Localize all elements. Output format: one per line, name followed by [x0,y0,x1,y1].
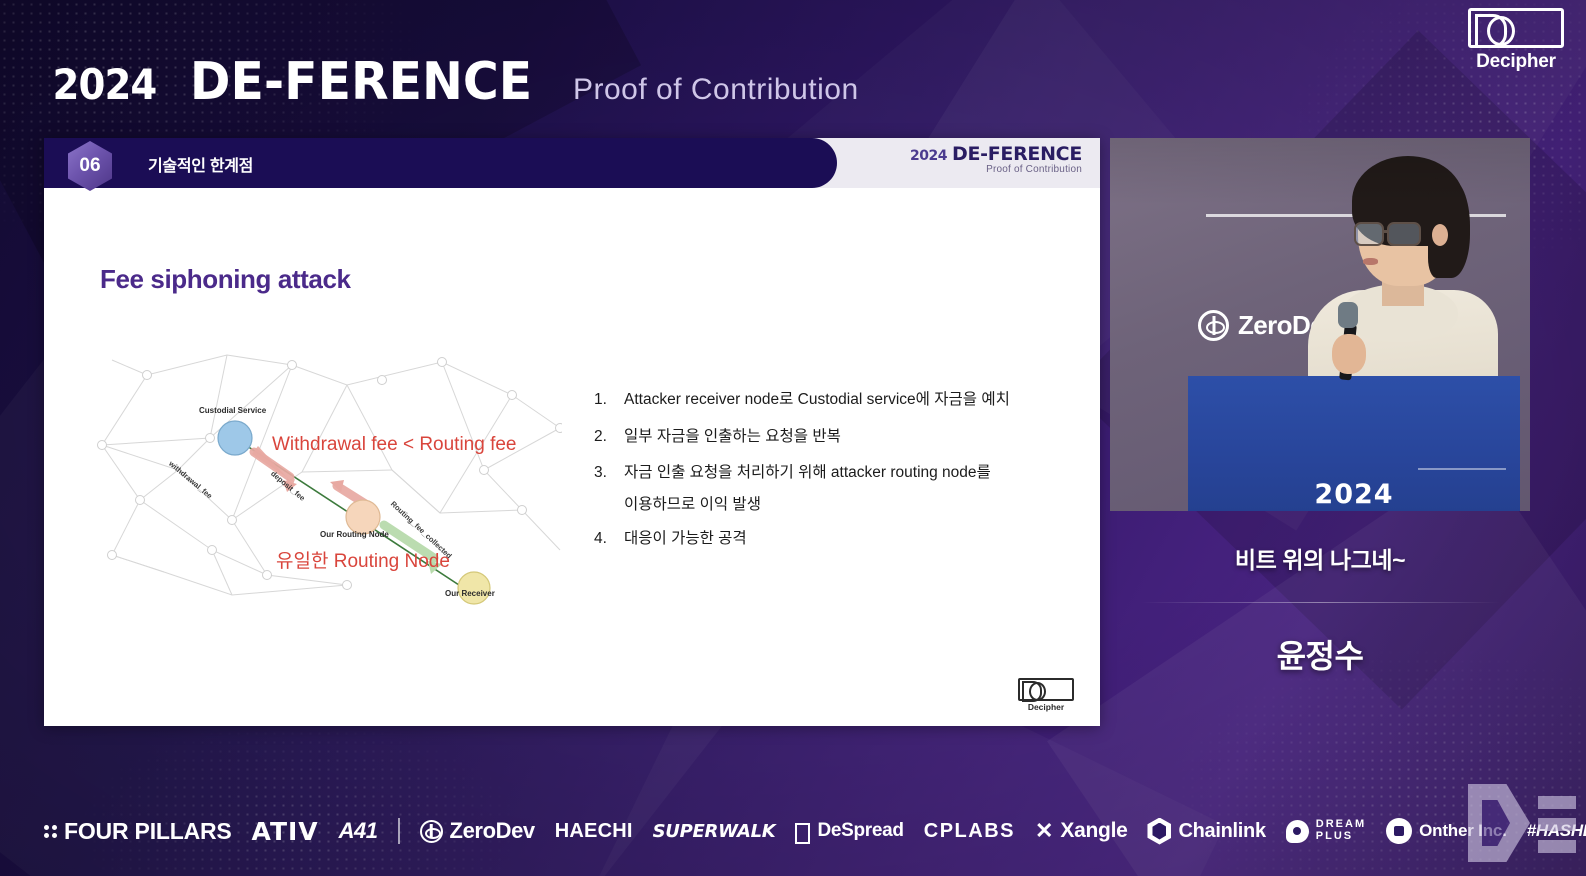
sponsor-label: DREAM PLUS [1316,819,1366,842]
sponsor-dreamplus: DREAM PLUS [1286,819,1366,842]
slide-body: Fee siphoning attack [44,188,1100,726]
section-title: 기술적인 한계점 [148,152,253,176]
watermark-d-shape [1468,784,1530,862]
speaker-video-feed[interactable]: ZeroDev 2024 [1110,138,1530,511]
node-label-routing: Our Routing Node [320,530,389,539]
list-item-text: 대응이 가능한 공격 [624,527,1064,551]
despread-brackets-icon [795,823,810,840]
sponsor-label-line2: PLUS [1316,830,1353,842]
decipher-mark-icon [1018,678,1074,701]
list-item-number: 1. [594,388,610,412]
node-label-receiver: Our Receiver [445,589,495,598]
sponsor-label: A41 [339,818,378,844]
broadcast-stream-frame: 2024 DE-FERENCE Proof of Contribution De… [0,0,1586,876]
slide-brand-name: DE-FERENCE [952,143,1082,165]
sponsor-label: Chainlink [1178,820,1265,843]
sponsor-four-pillars: FOUR PILLARS [44,818,232,845]
presentation-slide: 06 기술적인 한계점 2024DE-FERENCE Proof of Cont… [44,138,1100,726]
video-overlay-fade [1110,138,1530,511]
list-item-continuation: 이용하므로 이익 발생 [624,492,1064,514]
slide-title: Fee siphoning attack [100,264,351,295]
list-item-number: 2. [594,425,610,449]
diagram-network-graph [92,350,562,620]
slide-header: 06 기술적인 한계점 2024DE-FERENCE Proof of Cont… [44,138,1100,188]
decipher-d-watermark-icon [1468,784,1586,868]
sponsor-xangle: ✕ Xangle [1035,818,1128,844]
sponsor-superwalk: SUPERWALK [653,821,776,842]
list-item: 1. Attacker receiver node로 Custodial ser… [594,388,1064,412]
node-custodial-service [218,421,252,455]
list-item-text: Attacker receiver node로 Custodial servic… [624,388,1064,412]
sponsor-logo-bar: FOUR PILLARS ATIV A41 ZeroDev HAECHI SUP… [0,786,1586,876]
decipher-mark-icon [1468,8,1564,48]
event-title-header: 2024 DE-FERENCE Proof of Contribution [48,52,859,112]
decipher-wordmark: Decipher [1014,702,1078,712]
event-year: 2024 [53,60,157,109]
chainlink-hexagon-icon [1147,818,1171,845]
four-dots-icon [44,825,57,838]
sponsor-zerodev: ZeroDev [420,818,535,844]
list-item-number: 3. [594,461,610,485]
zerodev-globe-icon [420,820,443,843]
speaker-divider [1140,602,1500,603]
sponsor-label: CPLABS [924,820,1015,843]
slide-brand-tagline: Proof of Contribution [910,164,1082,175]
sponsor-label: Xangle [1060,819,1127,843]
slide-brand-logo: 2024DE-FERENCE Proof of Contribution [910,143,1082,175]
slide-brand-year: 2024 [910,148,947,164]
speaker-name: 윤정수 [1110,631,1530,677]
list-item: 2. 일부 자금을 인출하는 요청을 반복 [594,425,1064,449]
sponsor-label: ATIV [252,817,319,846]
sponsor-ativ: ATIV [252,817,319,846]
sponsor-label: ZeroDev [450,818,535,844]
sponsor-label: FOUR PILLARS [64,818,232,845]
sponsor-despread: DeSpread [795,820,903,842]
sponsor-label: HAECHI [555,820,633,843]
sponsor-label: SUPERWALK [653,821,776,842]
list-item: 3. 자금 인출 요청을 처리하기 위해 attacker routing no… [594,461,1064,485]
list-item: 4. 대응이 가능한 공격 [594,527,1064,551]
decipher-wordmark: Decipher [1462,51,1570,73]
node-label-custodial: Custodial Service [199,406,266,415]
sponsor-cplabs: CPLABS [924,820,1015,843]
event-name: DE-FERENCE [190,52,532,112]
slide-decipher-logo: Decipher [1014,678,1078,712]
sponsor-chainlink: Chainlink [1147,818,1265,845]
sponsor-a41: A41 [339,818,378,844]
fee-siphoning-diagram: Custodial Service Our Routing Node Our R… [92,350,562,620]
sponsor-divider [398,818,400,844]
watermark-bars [1538,796,1576,862]
event-tagline: Proof of Contribution [573,73,859,107]
x-mark-icon: ✕ [1035,818,1053,844]
list-item-text: 자금 인출 요청을 처리하기 위해 attacker routing node를 [624,461,1064,485]
node-our-routing [346,500,380,534]
talk-title: 비트 위의 나그네~ [1110,541,1530,575]
speaker-panel: ZeroDev 2024 비트 위의 나그네~ 윤정수 [1110,138,1530,677]
list-item-number: 4. [594,527,610,551]
list-item-text: 일부 자금을 인출하는 요청을 반복 [624,425,1064,449]
sponsor-label-line1: DREAM [1316,818,1366,830]
sponsor-haechi: HAECHI [555,820,633,843]
bullet-list: 1. Attacker receiver node로 Custodial ser… [594,388,1064,563]
node-our-receiver [458,572,490,604]
onther-circle-icon [1386,818,1412,844]
sponsor-label: DeSpread [817,820,903,842]
dreamplus-drop-icon [1286,820,1309,843]
annotation-fee-comparison: Withdrawal fee < Routing fee [272,434,517,456]
annotation-unique-routing-node: 유일한 Routing Node [276,546,450,573]
decipher-logo: Decipher [1462,8,1570,73]
